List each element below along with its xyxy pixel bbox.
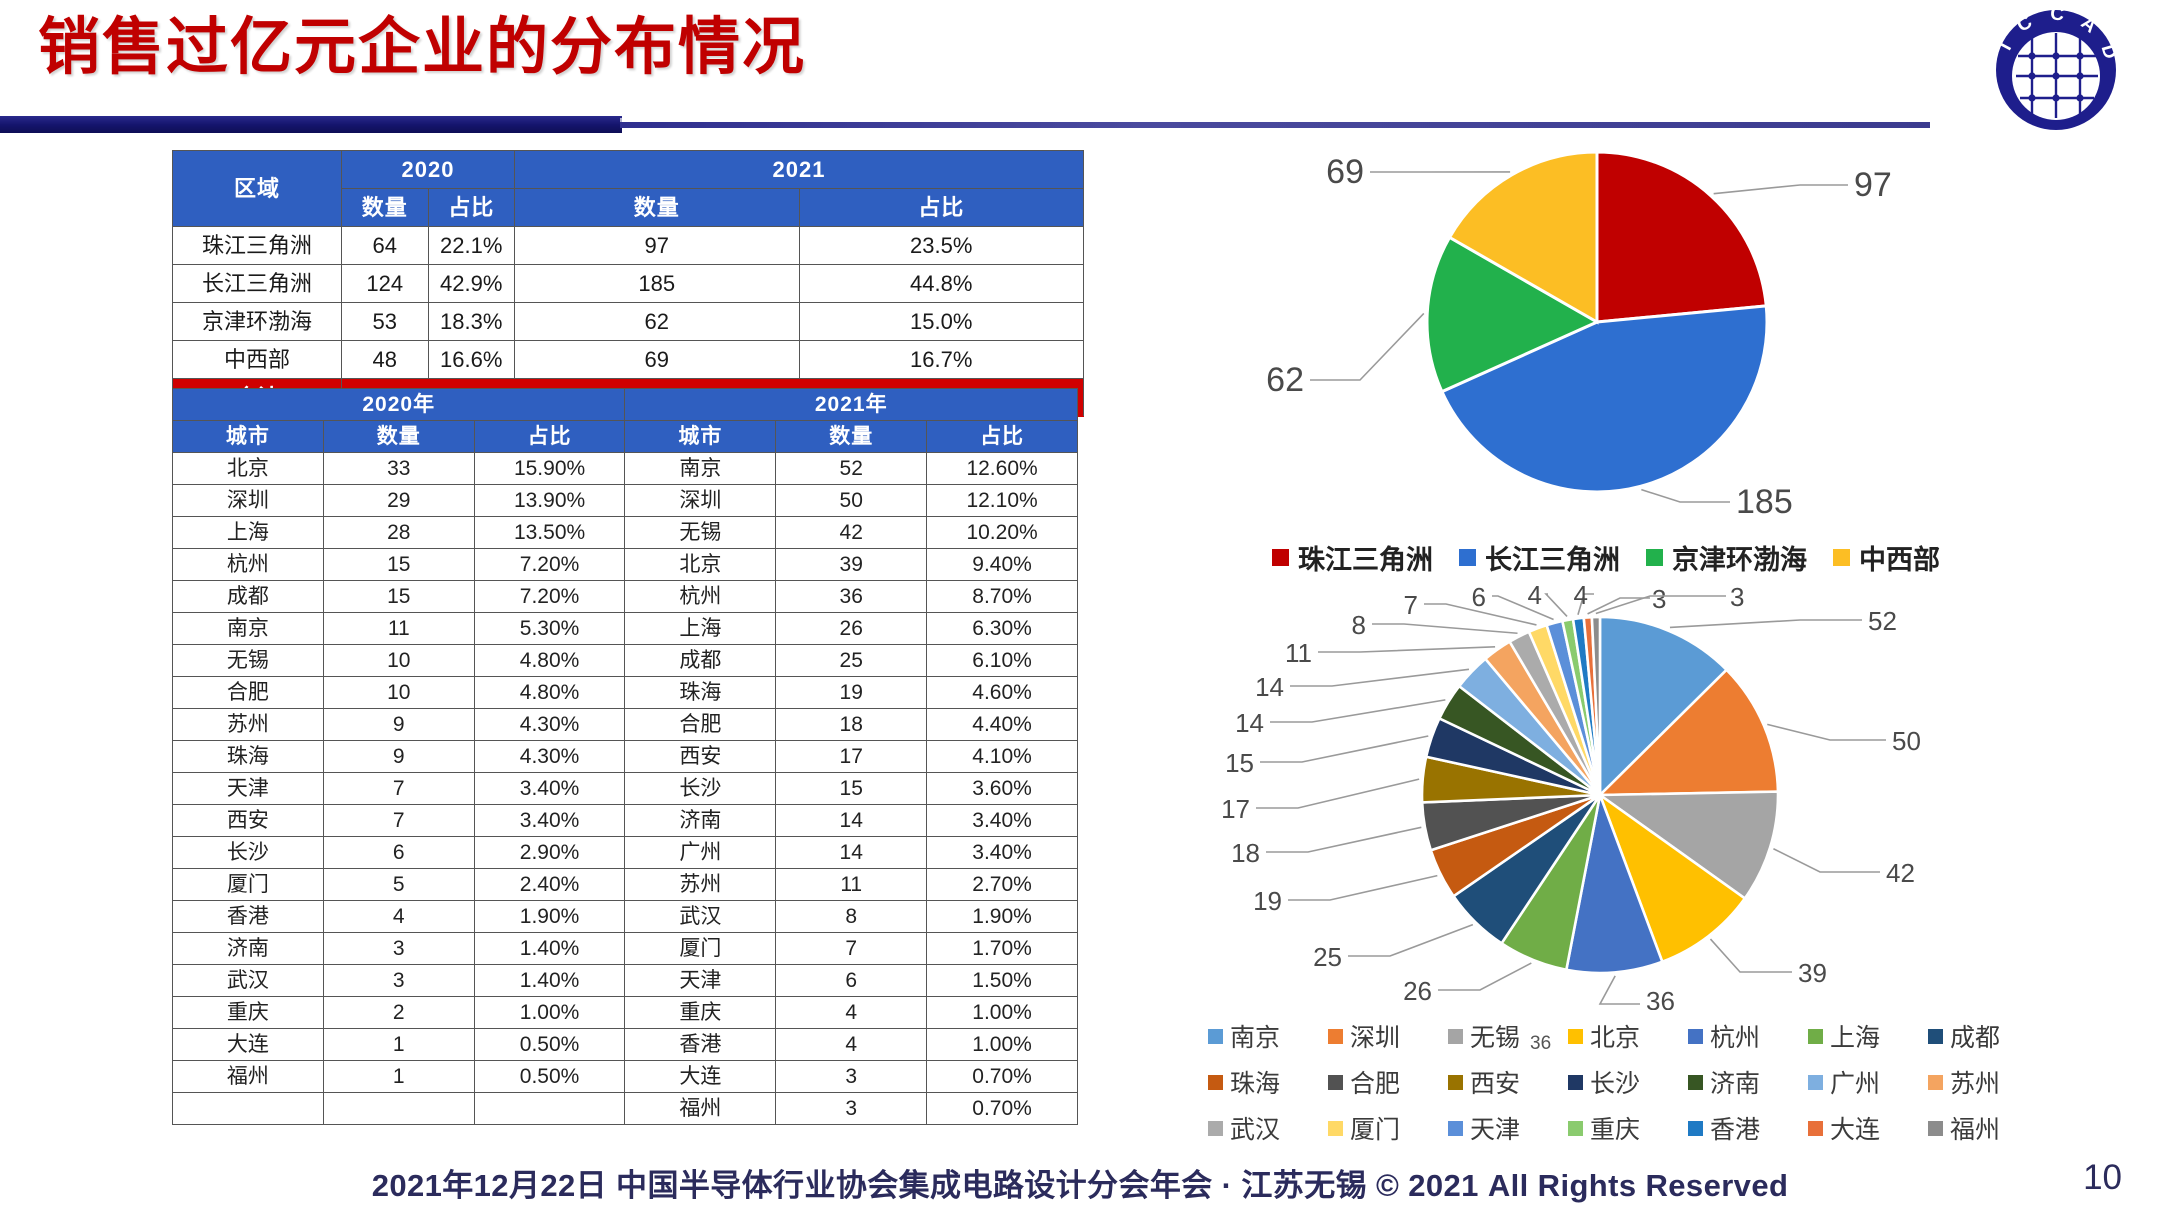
pie-data-label: 39 bbox=[1798, 958, 1827, 988]
cell-count-2021: 3 bbox=[776, 1061, 927, 1093]
table-row: 大连10.50%香港41.00% bbox=[173, 1029, 1078, 1061]
legend-swatch-icon bbox=[1568, 1075, 1583, 1090]
th-share-a: 占比 bbox=[474, 421, 625, 453]
city-legend-item[interactable]: 合肥 bbox=[1328, 1064, 1448, 1100]
cell-share-2021: 10.20% bbox=[927, 517, 1078, 549]
cell-city-2020: 重庆 bbox=[173, 997, 324, 1029]
legend-label: 上海 bbox=[1830, 1018, 1880, 1054]
cell-share-2021: 4.40% bbox=[927, 709, 1078, 741]
cell-count-2021: 3 bbox=[776, 1093, 927, 1125]
legend-label: 济南 bbox=[1710, 1064, 1760, 1100]
cell-c2020: 48 bbox=[342, 341, 429, 379]
cell-count-2021: 14 bbox=[776, 837, 927, 869]
city-legend-item[interactable]: 济南 bbox=[1688, 1064, 1808, 1100]
cell-share-2021: 12.60% bbox=[927, 453, 1078, 485]
cell-c2020: 53 bbox=[342, 303, 429, 341]
cell-city-2020: 杭州 bbox=[173, 549, 324, 581]
cell-city-2020: 天津 bbox=[173, 773, 324, 805]
city-legend-item[interactable]: 厦门 bbox=[1328, 1110, 1448, 1146]
cell-share-2020: 3.40% bbox=[474, 805, 625, 837]
cell-p2021: 16.7% bbox=[799, 341, 1084, 379]
cell-count-2021: 26 bbox=[776, 613, 927, 645]
cell-p2020: 16.6% bbox=[428, 341, 515, 379]
th-city-2021: 2021年 bbox=[625, 389, 1078, 421]
pie-leader-line bbox=[1641, 490, 1730, 502]
th-2021-share: 占比 bbox=[799, 189, 1084, 227]
cell-count-2020: 1 bbox=[323, 1061, 474, 1093]
city-distribution-table: 2020年 2021年 城市 数量 占比 城市 数量 占比 北京3315.90%… bbox=[172, 388, 1078, 1125]
cell-city-2020: 大连 bbox=[173, 1029, 324, 1061]
pie-leader-line bbox=[1372, 624, 1518, 633]
pie-data-label: 69 bbox=[1326, 153, 1364, 191]
cell-city-2021: 济南 bbox=[625, 805, 776, 837]
cell-city-2020: 成都 bbox=[173, 581, 324, 613]
pie-data-label: 36 bbox=[1646, 986, 1675, 1010]
footer-text: 2021年12月22日 中国半导体行业协会集成电路设计分会年会 · 江苏无锡 ©… bbox=[0, 1160, 2160, 1205]
cell-count-2020 bbox=[323, 1093, 474, 1125]
city-legend-item[interactable]: 香港 bbox=[1688, 1110, 1808, 1146]
legend-label: 西安 bbox=[1470, 1064, 1520, 1100]
cell-c2020: 124 bbox=[342, 265, 429, 303]
legend-swatch-icon bbox=[1833, 549, 1850, 566]
cell-share-2020: 15.90% bbox=[474, 453, 625, 485]
pie-leader-line bbox=[1767, 724, 1886, 740]
region-pie-legend: 珠江三角洲长江三角洲京津环渤海中西部 bbox=[1272, 538, 1972, 577]
th-region: 区域 bbox=[173, 151, 342, 227]
pie-leader-line bbox=[1256, 779, 1419, 808]
cell-share-2021: 4.10% bbox=[927, 741, 1078, 773]
cell-city-2020: 厦门 bbox=[173, 869, 324, 901]
cell-share-2021: 3.40% bbox=[927, 837, 1078, 869]
pie-data-label: 8 bbox=[1352, 610, 1366, 640]
cell-city-2020: 珠海 bbox=[173, 741, 324, 773]
cell-count-2021: 36 bbox=[776, 581, 927, 613]
cell-share-2021: 1.00% bbox=[927, 997, 1078, 1029]
city-legend-item[interactable]: 武汉 bbox=[1208, 1110, 1328, 1146]
city-legend-item[interactable]: 北京 bbox=[1568, 1018, 1688, 1054]
cell-region: 长江三角洲 bbox=[173, 265, 342, 303]
region-distribution-table: 区域 2020 2021 数量 占比 数量 占比 珠江三角洲6422.1%972… bbox=[172, 150, 1084, 417]
pie-leader-line bbox=[1670, 620, 1862, 627]
legend-label: 深圳 bbox=[1350, 1018, 1400, 1054]
cell-count-2021: 4 bbox=[776, 997, 927, 1029]
cell-city-2021: 天津 bbox=[625, 965, 776, 997]
cell-p2021: 23.5% bbox=[799, 227, 1084, 265]
cell-city-2020 bbox=[173, 1093, 324, 1125]
pie-leader-line bbox=[1288, 876, 1437, 900]
pie-data-label: 15 bbox=[1225, 748, 1254, 778]
table-row: 南京115.30%上海266.30% bbox=[173, 613, 1078, 645]
cell-count-2020: 10 bbox=[323, 645, 474, 677]
th-share-b: 占比 bbox=[927, 421, 1078, 453]
cell-share-2020: 5.30% bbox=[474, 613, 625, 645]
cell-share-2020: 0.50% bbox=[474, 1061, 625, 1093]
legend-label: 无锡 bbox=[1470, 1018, 1520, 1054]
cell-count-2020: 5 bbox=[323, 869, 474, 901]
table-row: 重庆21.00%重庆41.00% bbox=[173, 997, 1078, 1029]
legend-swatch-icon bbox=[1568, 1029, 1583, 1044]
legend-swatch-icon bbox=[1808, 1121, 1823, 1136]
legend-swatch-icon bbox=[1928, 1075, 1943, 1090]
pie-data-label: 97 bbox=[1854, 166, 1892, 204]
legend-swatch-icon bbox=[1328, 1075, 1343, 1090]
cell-count-2021: 7 bbox=[776, 933, 927, 965]
cell-c2021: 69 bbox=[515, 341, 800, 379]
legend-swatch-icon bbox=[1328, 1029, 1343, 1044]
city-legend-item[interactable]: 杭州 bbox=[1688, 1018, 1808, 1054]
cell-city-2020: 济南 bbox=[173, 933, 324, 965]
pie-data-label: 11 bbox=[1285, 638, 1312, 668]
table-row: 厦门52.40%苏州112.70% bbox=[173, 869, 1078, 901]
cell-count-2021: 15 bbox=[776, 773, 927, 805]
table-row: 香港41.90%武汉81.90% bbox=[173, 901, 1078, 933]
cell-count-2020: 3 bbox=[323, 933, 474, 965]
cell-share-2020: 1.40% bbox=[474, 965, 625, 997]
cell-city-2021: 苏州 bbox=[625, 869, 776, 901]
cell-city-2020: 北京 bbox=[173, 453, 324, 485]
cell-region: 京津环渤海 bbox=[173, 303, 342, 341]
table-row: 成都157.20%杭州368.70% bbox=[173, 581, 1078, 613]
cell-city-2020: 苏州 bbox=[173, 709, 324, 741]
cell-p2020: 22.1% bbox=[428, 227, 515, 265]
cell-count-2021: 18 bbox=[776, 709, 927, 741]
page-title: 销售过亿元企业的分布情况 bbox=[38, 12, 806, 83]
cell-count-2020: 10 bbox=[323, 677, 474, 709]
pie-leader-line bbox=[1710, 939, 1792, 972]
legend-swatch-icon bbox=[1448, 1075, 1463, 1090]
cell-city-2021: 福州 bbox=[625, 1093, 776, 1125]
legend-label: 香港 bbox=[1710, 1110, 1760, 1146]
cell-count-2020: 15 bbox=[323, 581, 474, 613]
cell-share-2021: 1.00% bbox=[927, 1029, 1078, 1061]
legend-label: 北京 bbox=[1590, 1018, 1640, 1054]
legend-label: 中西部 bbox=[1859, 538, 1940, 577]
cell-region: 中西部 bbox=[173, 341, 342, 379]
cell-share-2021: 1.70% bbox=[927, 933, 1078, 965]
cell-p2020: 42.9% bbox=[428, 265, 515, 303]
cell-share-2021: 0.70% bbox=[927, 1061, 1078, 1093]
cell-count-2021: 42 bbox=[776, 517, 927, 549]
title-divider-thick bbox=[0, 116, 622, 133]
table-row: 珠江三角洲6422.1%9723.5% bbox=[173, 227, 1084, 265]
cell-share-2020: 0.50% bbox=[474, 1029, 625, 1061]
cell-share-2020: 7.20% bbox=[474, 549, 625, 581]
cell-p2020: 18.3% bbox=[428, 303, 515, 341]
table-row: 福州30.70% bbox=[173, 1093, 1078, 1125]
cell-city-2021: 成都 bbox=[625, 645, 776, 677]
legend-swatch-icon bbox=[1208, 1121, 1223, 1136]
cell-share-2021: 1.90% bbox=[927, 901, 1078, 933]
th-2021-count: 数量 bbox=[515, 189, 800, 227]
city-legend-item[interactable]: 大连 bbox=[1808, 1110, 1928, 1146]
cell-share-2021: 6.10% bbox=[927, 645, 1078, 677]
legend-swatch-icon bbox=[1808, 1075, 1823, 1090]
table-row: 京津环渤海5318.3%6215.0% bbox=[173, 303, 1084, 341]
cell-city-2020: 西安 bbox=[173, 805, 324, 837]
city-legend-item[interactable]: 天津 bbox=[1448, 1110, 1568, 1146]
cell-share-2021: 3.60% bbox=[927, 773, 1078, 805]
legend-label: 福州 bbox=[1950, 1110, 2000, 1146]
table-row: 长沙62.90%广州143.40% bbox=[173, 837, 1078, 869]
cell-city-2021: 香港 bbox=[625, 1029, 776, 1061]
th-count-b: 数量 bbox=[776, 421, 927, 453]
city-legend-item[interactable]: 上海 bbox=[1808, 1018, 1928, 1054]
legend-swatch-icon bbox=[1928, 1121, 1943, 1136]
cell-count-2021: 52 bbox=[776, 453, 927, 485]
legend-swatch-icon bbox=[1808, 1029, 1823, 1044]
cell-share-2021: 8.70% bbox=[927, 581, 1078, 613]
cell-city-2021: 合肥 bbox=[625, 709, 776, 741]
legend-label: 苏州 bbox=[1950, 1064, 2000, 1100]
cell-count-2021: 25 bbox=[776, 645, 927, 677]
legend-label: 成都 bbox=[1950, 1018, 2000, 1054]
cell-count-2020: 3 bbox=[323, 965, 474, 997]
city-legend-item[interactable]: 福州 bbox=[1928, 1110, 2048, 1146]
legend-swatch-icon bbox=[1568, 1121, 1583, 1136]
cell-city-2021: 杭州 bbox=[625, 581, 776, 613]
city-legend-item[interactable]: 南京 bbox=[1208, 1018, 1328, 1054]
cell-city-2021: 广州 bbox=[625, 837, 776, 869]
pie-leader-line bbox=[1270, 700, 1445, 722]
cell-share-2020: 1.90% bbox=[474, 901, 625, 933]
legend-label: 长沙 bbox=[1590, 1064, 1640, 1100]
cell-share-2020: 3.40% bbox=[474, 773, 625, 805]
cell-p2021: 15.0% bbox=[799, 303, 1084, 341]
cell-count-2020: 33 bbox=[323, 453, 474, 485]
cell-count-2021: 14 bbox=[776, 805, 927, 837]
table-header-row: 区域 2020 2021 bbox=[173, 151, 1084, 189]
cell-share-2021: 1.50% bbox=[927, 965, 1078, 997]
cell-share-2020: 13.90% bbox=[474, 485, 625, 517]
pie-data-label: 42 bbox=[1886, 858, 1915, 888]
pie-leader-line bbox=[1260, 736, 1428, 762]
table-row: 福州10.50%大连30.70% bbox=[173, 1061, 1078, 1093]
table-row: 苏州94.30%合肥184.40% bbox=[173, 709, 1078, 741]
table-subheader-row: 城市 数量 占比 城市 数量 占比 bbox=[173, 421, 1078, 453]
cell-count-2020: 1 bbox=[323, 1029, 474, 1061]
pie-leader-line bbox=[1348, 925, 1473, 956]
legend-label: 大连 bbox=[1830, 1110, 1880, 1146]
city-legend-item[interactable]: 成都 bbox=[1928, 1018, 2048, 1054]
legend-label: 长江三角洲 bbox=[1485, 538, 1620, 577]
table-row: 深圳2913.90%深圳5012.10% bbox=[173, 485, 1078, 517]
region-legend-item[interactable]: 京津环渤海 bbox=[1646, 538, 1807, 577]
city-pie-chart: 52504239362625191817151414118764433 bbox=[1180, 580, 2080, 1010]
cell-c2020: 64 bbox=[342, 227, 429, 265]
slide-canvas: 销售过亿元企业的分布情况 I C C A D bbox=[0, 0, 2160, 1216]
pie-data-label: 14 bbox=[1235, 708, 1264, 738]
cell-share-2020: 1.40% bbox=[474, 933, 625, 965]
cell-city-2020: 上海 bbox=[173, 517, 324, 549]
region-pie-chart: 971856269 bbox=[1160, 130, 2080, 520]
legend-label: 京津环渤海 bbox=[1672, 538, 1807, 577]
pie-data-label: 3 bbox=[1652, 584, 1666, 614]
th-city-b: 城市 bbox=[625, 421, 776, 453]
region-legend-item[interactable]: 长江三角洲 bbox=[1459, 538, 1620, 577]
pie-data-label: 52 bbox=[1868, 606, 1897, 636]
legend-swatch-icon bbox=[1328, 1121, 1343, 1136]
table-row: 上海2813.50%无锡4210.20% bbox=[173, 517, 1078, 549]
legend-label: 杭州 bbox=[1710, 1018, 1760, 1054]
th-2020-share: 占比 bbox=[428, 189, 515, 227]
cell-count-2020: 29 bbox=[323, 485, 474, 517]
cell-count-2020: 28 bbox=[323, 517, 474, 549]
table-row: 合肥104.80%珠海194.60% bbox=[173, 677, 1078, 709]
th-city-a: 城市 bbox=[173, 421, 324, 453]
cell-share-2021: 9.40% bbox=[927, 549, 1078, 581]
pie-leader-line bbox=[1546, 594, 1567, 616]
cell-count-2020: 6 bbox=[323, 837, 474, 869]
cell-count-2020: 9 bbox=[323, 741, 474, 773]
title-divider-thin bbox=[620, 122, 1930, 128]
pie-data-label: 14 bbox=[1255, 672, 1284, 702]
legend-swatch-icon bbox=[1448, 1121, 1463, 1136]
table-row: 无锡104.80%成都256.10% bbox=[173, 645, 1078, 677]
pie-leader-line bbox=[1714, 185, 1848, 194]
city-legend-item[interactable]: 长沙 bbox=[1568, 1064, 1688, 1100]
pie-data-label: 7 bbox=[1404, 590, 1418, 620]
region-legend-item[interactable]: 中西部 bbox=[1833, 538, 1940, 577]
cell-count-2021: 17 bbox=[776, 741, 927, 773]
pie-data-label: 26 bbox=[1403, 976, 1432, 1006]
pie-data-label: 4 bbox=[1528, 580, 1542, 610]
cell-city-2020: 合肥 bbox=[173, 677, 324, 709]
city-pie-legend: 南京深圳无锡北京杭州上海成都珠海合肥西安长沙济南广州苏州武汉厦门天津重庆香港大连… bbox=[1208, 1018, 2048, 1146]
pie-data-label: 62 bbox=[1266, 361, 1304, 399]
cell-share-2020: 2.40% bbox=[474, 869, 625, 901]
cell-city-2020: 无锡 bbox=[173, 645, 324, 677]
cell-c2021: 62 bbox=[515, 303, 800, 341]
pie-data-label: 17 bbox=[1221, 794, 1250, 824]
cell-count-2020: 2 bbox=[323, 997, 474, 1029]
cell-p2021: 44.8% bbox=[799, 265, 1084, 303]
table-row: 天津73.40%长沙153.60% bbox=[173, 773, 1078, 805]
pie-leader-line bbox=[1290, 669, 1469, 686]
cell-share-2021: 4.60% bbox=[927, 677, 1078, 709]
cell-share-2020: 13.50% bbox=[474, 517, 625, 549]
legend-swatch-icon bbox=[1448, 1029, 1463, 1044]
cell-city-2021: 深圳 bbox=[625, 485, 776, 517]
pie-data-label: 19 bbox=[1253, 886, 1282, 916]
cell-city-2021: 北京 bbox=[625, 549, 776, 581]
cell-city-2021: 重庆 bbox=[625, 997, 776, 1029]
table-row: 珠海94.30%西安174.10% bbox=[173, 741, 1078, 773]
cell-count-2020: 15 bbox=[323, 549, 474, 581]
pie-data-label: 25 bbox=[1313, 942, 1342, 972]
cell-count-2021: 4 bbox=[776, 1029, 927, 1061]
legend-swatch-icon bbox=[1646, 549, 1663, 566]
th-2020-count: 数量 bbox=[342, 189, 429, 227]
city-legend-item[interactable]: 重庆 bbox=[1568, 1110, 1688, 1146]
cell-city-2021: 武汉 bbox=[625, 901, 776, 933]
cell-share-2021: 12.10% bbox=[927, 485, 1078, 517]
cell-city-2020: 香港 bbox=[173, 901, 324, 933]
pie-data-label: 6 bbox=[1472, 582, 1486, 612]
cell-share-2021: 6.30% bbox=[927, 613, 1078, 645]
city-legend-item[interactable]: 广州 bbox=[1808, 1064, 1928, 1100]
cell-share-2020: 7.20% bbox=[474, 581, 625, 613]
cell-city-2021: 上海 bbox=[625, 613, 776, 645]
cell-share-2020: 2.90% bbox=[474, 837, 625, 869]
legend-label: 珠海 bbox=[1230, 1064, 1280, 1100]
table-row: 北京3315.90%南京5212.60% bbox=[173, 453, 1078, 485]
cell-city-2020: 深圳 bbox=[173, 485, 324, 517]
city-legend-item[interactable]: 深圳 bbox=[1328, 1018, 1448, 1054]
cell-share-2021: 2.70% bbox=[927, 869, 1078, 901]
table-row: 长江三角洲12442.9%18544.8% bbox=[173, 265, 1084, 303]
cell-city-2021: 西安 bbox=[625, 741, 776, 773]
legend-label: 珠江三角洲 bbox=[1298, 538, 1433, 577]
cell-share-2020: 4.80% bbox=[474, 645, 625, 677]
cell-city-2021: 长沙 bbox=[625, 773, 776, 805]
cell-count-2020: 7 bbox=[323, 805, 474, 837]
cell-city-2021: 厦门 bbox=[625, 933, 776, 965]
cell-count-2020: 4 bbox=[323, 901, 474, 933]
legend-swatch-icon bbox=[1928, 1029, 1943, 1044]
table-header-row: 2020年 2021年 bbox=[173, 389, 1078, 421]
cell-city-2020: 福州 bbox=[173, 1061, 324, 1093]
cell-city-2020: 南京 bbox=[173, 613, 324, 645]
legend-swatch-icon bbox=[1459, 549, 1476, 566]
cell-share-2021: 3.40% bbox=[927, 805, 1078, 837]
pie-data-label: 3 bbox=[1730, 582, 1744, 612]
city-legend-item[interactable]: 珠海 bbox=[1208, 1064, 1328, 1100]
legend-swatch-icon bbox=[1208, 1075, 1223, 1090]
cell-c2021: 185 bbox=[515, 265, 800, 303]
pie-leader-line bbox=[1773, 849, 1880, 872]
city-legend-item[interactable]: 无锡 bbox=[1448, 1018, 1568, 1054]
legend-swatch-icon bbox=[1688, 1121, 1703, 1136]
legend-label: 厦门 bbox=[1350, 1110, 1400, 1146]
cell-share-2021: 0.70% bbox=[927, 1093, 1078, 1125]
cell-count-2021: 39 bbox=[776, 549, 927, 581]
legend-swatch-icon bbox=[1272, 549, 1289, 566]
cell-city-2020: 武汉 bbox=[173, 965, 324, 997]
city-legend-item[interactable]: 西安 bbox=[1448, 1064, 1568, 1100]
table-row: 武汉31.40%天津61.50% bbox=[173, 965, 1078, 997]
cell-city-2020: 长沙 bbox=[173, 837, 324, 869]
legend-label: 天津 bbox=[1470, 1110, 1520, 1146]
city-legend-item[interactable]: 苏州 bbox=[1928, 1064, 2048, 1100]
cell-count-2021: 19 bbox=[776, 677, 927, 709]
cell-city-2021: 南京 bbox=[625, 453, 776, 485]
pie-slice[interactable] bbox=[1597, 152, 1766, 322]
pie-leader-line bbox=[1600, 976, 1640, 1004]
cell-region: 珠江三角洲 bbox=[173, 227, 342, 265]
region-legend-item[interactable]: 珠江三角洲 bbox=[1272, 538, 1433, 577]
cell-count-2021: 50 bbox=[776, 485, 927, 517]
cell-share-2020: 1.00% bbox=[474, 997, 625, 1029]
cell-count-2020: 11 bbox=[323, 613, 474, 645]
cell-share-2020: 4.30% bbox=[474, 741, 625, 773]
pie-data-label: 18 bbox=[1231, 838, 1260, 868]
page-number: 10 bbox=[2083, 1158, 2122, 1198]
pie-data-label: 185 bbox=[1736, 483, 1793, 520]
legend-swatch-icon bbox=[1688, 1029, 1703, 1044]
pie-data-label: 50 bbox=[1892, 726, 1921, 756]
cell-share-2020 bbox=[474, 1093, 625, 1125]
pie-leader-line bbox=[1266, 827, 1421, 852]
legend-label: 武汉 bbox=[1230, 1110, 1280, 1146]
table-row: 济南31.40%厦门71.70% bbox=[173, 933, 1078, 965]
cell-count-2021: 11 bbox=[776, 869, 927, 901]
table-row: 中西部4816.6%6916.7% bbox=[173, 341, 1084, 379]
pie-data-label: 4 bbox=[1574, 580, 1588, 610]
cell-count-2021: 6 bbox=[776, 965, 927, 997]
pie-leader-line bbox=[1310, 313, 1424, 380]
table-row: 杭州157.20%北京399.40% bbox=[173, 549, 1078, 581]
cell-count-2020: 9 bbox=[323, 709, 474, 741]
